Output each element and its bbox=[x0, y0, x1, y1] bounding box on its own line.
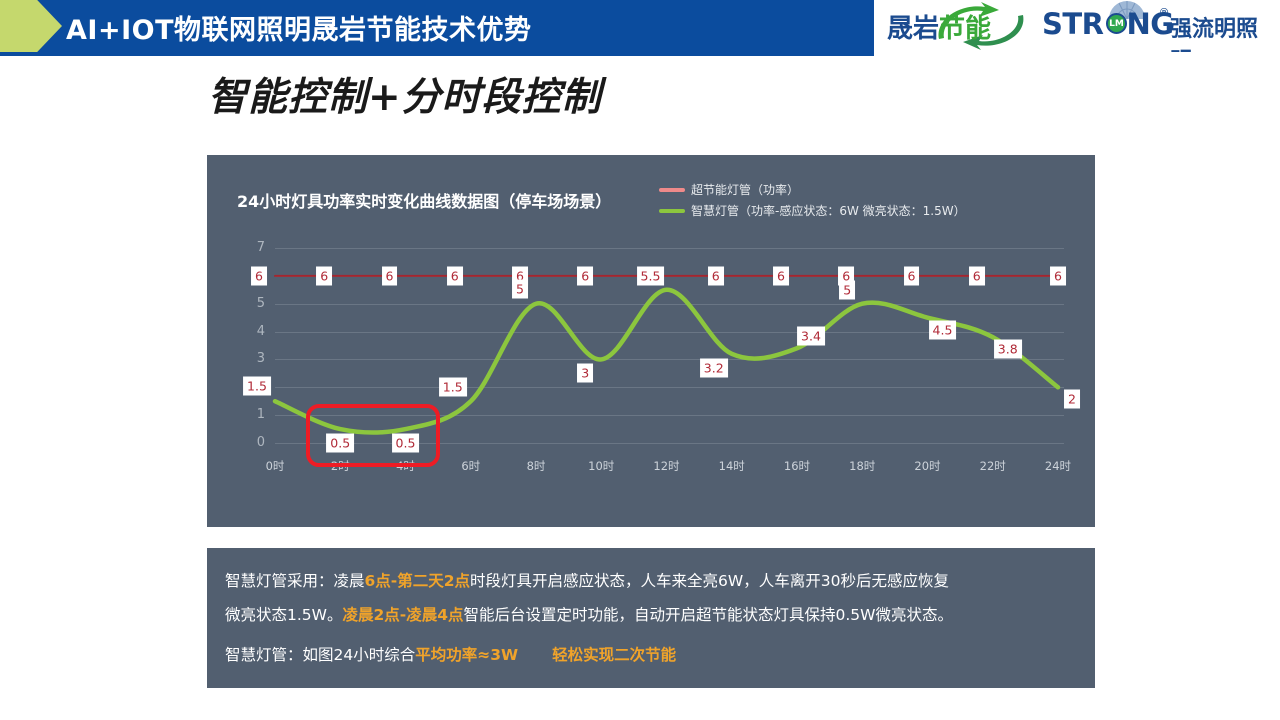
data-label: 6 bbox=[447, 266, 463, 285]
arrow-right-icon bbox=[0, 0, 62, 52]
data-label: 6 bbox=[969, 266, 985, 285]
data-label: 4.5 bbox=[929, 320, 957, 339]
data-label: 5 bbox=[512, 279, 528, 298]
note-3-part-1: 智慧灯管：如图24小时综合 bbox=[225, 646, 415, 664]
chart-plot-area: 012345670时2时4时6时8时10时12时14时16时18时20时22时2… bbox=[207, 155, 1095, 527]
note-2-highlight: 凌晨2点-凌晨4点 bbox=[342, 606, 463, 624]
data-label: 0.5 bbox=[392, 434, 420, 453]
note-2-part-2: 智能后台设置定时功能，自动开启超节能状态灯具保持0.5W微亮状态。 bbox=[464, 606, 953, 624]
data-label: 3.8 bbox=[994, 340, 1022, 359]
note-line-3: 智慧灯管：如图24小时综合平均功率≈3W轻松实现二次节能 bbox=[225, 638, 1073, 672]
note-panel: 智慧灯管采用：凌晨6点-第二天2点时段灯具开启感应状态，人车来全亮6W，人车离开… bbox=[207, 548, 1095, 688]
data-label: 5.5 bbox=[637, 266, 665, 285]
chart-panel: 24小时灯具功率实时变化曲线数据图（停车场场景） 超节能灯管（功率）智慧灯管（功… bbox=[207, 155, 1095, 527]
data-label: 6 bbox=[904, 266, 920, 285]
note-1-highlight: 6点-第二天2点 bbox=[365, 572, 471, 590]
note-1-part-2: 时段灯具开启感应状态，人车来全亮6W，人车离开30秒后无感应恢复 bbox=[470, 572, 949, 590]
note-2-part-1: 微亮状态1.5W。 bbox=[225, 606, 342, 624]
slide-root: AI+IOT物联网照明晟岩节能技术优势 晟岩节能 STRNG LM ® 强流明照… bbox=[0, 0, 1280, 720]
data-label: 3.4 bbox=[797, 327, 825, 346]
section-subtitle: 智能控制+分时段控制 bbox=[208, 66, 602, 122]
brand-logo: 晟岩节能 STRNG LM ® 强流明照明 bbox=[874, 0, 1280, 52]
logo-chinese-name: 晟岩节能 bbox=[887, 8, 991, 45]
data-label: 0.5 bbox=[326, 434, 354, 453]
note-3-highlight-1: 平均功率≈3W bbox=[415, 646, 518, 664]
data-label: 5 bbox=[839, 280, 855, 299]
data-label: 6 bbox=[577, 266, 593, 285]
data-label: 6 bbox=[773, 266, 789, 285]
data-label: 3 bbox=[577, 364, 593, 383]
data-label: 2 bbox=[1064, 390, 1080, 409]
data-label: 6 bbox=[382, 266, 398, 285]
data-label: 6 bbox=[251, 266, 267, 285]
note-1-part-1: 智慧灯管采用：凌晨 bbox=[225, 572, 365, 590]
data-label: 3.2 bbox=[700, 358, 728, 377]
logo-chinese-suffix: 强流明照明 bbox=[1170, 11, 1275, 52]
header-underline bbox=[0, 52, 874, 56]
data-label: 6 bbox=[708, 266, 724, 285]
note-line-2: 微亮状态1.5W。凌晨2点-凌晨4点智能后台设置定时功能，自动开启超节能状态灯具… bbox=[225, 598, 1073, 632]
note-3-highlight-2: 轻松实现二次节能 bbox=[552, 646, 676, 664]
data-label: 1.5 bbox=[439, 378, 467, 397]
chart-series-layer bbox=[207, 155, 1095, 527]
data-label: 6 bbox=[1050, 266, 1066, 285]
page-title: AI+IOT物联网照明晟岩节能技术优势 bbox=[66, 8, 531, 47]
note-line-1: 智慧灯管采用：凌晨6点-第二天2点时段灯具开启感应状态，人车来全亮6W，人车离开… bbox=[225, 564, 1073, 598]
data-label: 1.5 bbox=[243, 377, 271, 396]
series-line bbox=[275, 290, 1058, 433]
data-label: 6 bbox=[316, 266, 332, 285]
logo-lm-badge: LM bbox=[1106, 13, 1127, 34]
registered-mark-icon: ® bbox=[1160, 7, 1168, 19]
